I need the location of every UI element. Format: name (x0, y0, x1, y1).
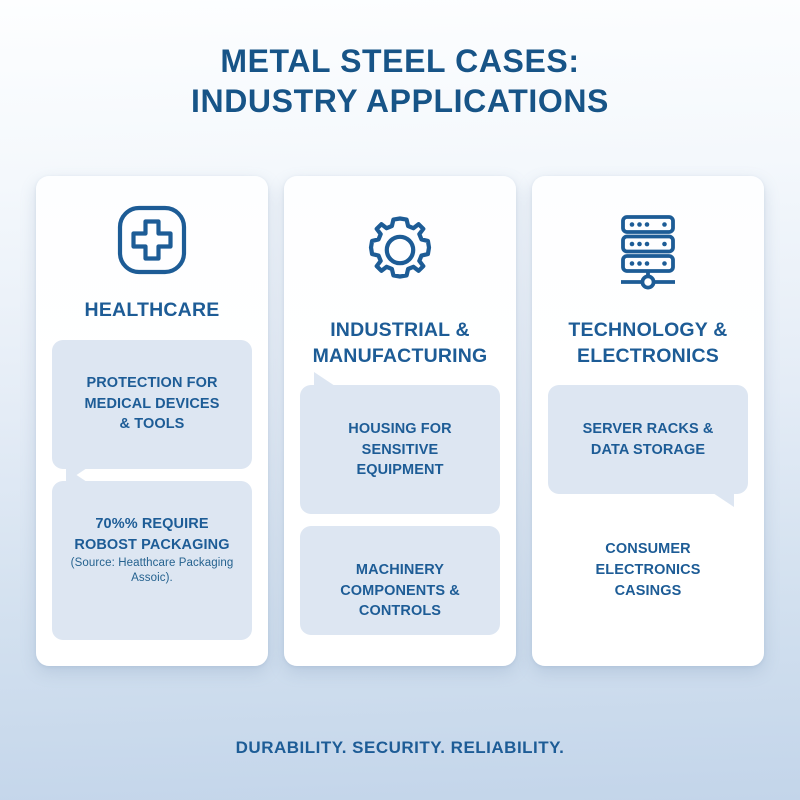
footer-tagline: DURABILITY. SECURITY. RELIABILITY. (0, 738, 800, 758)
bubble-tail-icon (314, 372, 338, 388)
card-technology-electronics[interactable]: TECHNOLOGY & ELECTRONICS SERVER RACKS & … (532, 176, 764, 666)
card-healthcare[interactable]: HEALTHCARE PROTECTION FOR MEDICAL DEVICE… (36, 176, 268, 666)
card-heading: HEALTHCARE (85, 298, 220, 324)
item-text: 70%% REQUIRE ROBOST PACKAGING (74, 516, 229, 553)
item-text: MACHINERY COMPONENTS & CONTROLS (340, 562, 460, 619)
card-heading: TECHNOLOGY & ELECTRONICS (568, 318, 727, 369)
infographic-poster: METAL STEEL CASES: INDUSTRY APPLICATIONS… (0, 0, 800, 800)
page-title: METAL STEEL CASES: INDUSTRY APPLICATIONS (0, 42, 800, 121)
bubble-tail-icon (710, 491, 734, 507)
item-text: SERVER RACKS & DATA STORAGE (583, 421, 714, 458)
item-text: CONSUMER ELECTRONICS CASINGS (595, 541, 700, 598)
list-item: 70%% REQUIRE ROBOST PACKAGING (Source: H… (52, 481, 252, 641)
card-industrial-manufacturing[interactable]: INDUSTRIAL & MANUFACTURING HOUSING FOR S… (284, 176, 516, 666)
list-item: HOUSING FOR SENSITIVE EQUIPMENT (300, 385, 500, 514)
item-source-note: (Source: Heatthcare Packaging Assoic). (62, 556, 242, 586)
gear-icon (362, 202, 438, 298)
list-item: MACHINERY COMPONENTS & CONTROLS (300, 526, 500, 634)
item-text: HOUSING FOR SENSITIVE EQUIPMENT (348, 421, 451, 478)
server-rack-icon (608, 202, 688, 298)
medical-cross-icon (114, 202, 190, 278)
card-items: PROTECTION FOR MEDICAL DEVICES & TOOLS 7… (52, 340, 252, 653)
list-item: SERVER RACKS & DATA STORAGE (548, 385, 748, 493)
bubble-tail-icon (66, 468, 90, 484)
card-items: HOUSING FOR SENSITIVE EQUIPMENT MACHINER… (300, 385, 500, 646)
card-heading: INDUSTRIAL & MANUFACTURING (313, 318, 488, 369)
list-item: CONSUMER ELECTRONICS CASINGS (548, 506, 748, 614)
card-items: SERVER RACKS & DATA STORAGE CONSUMER ELE… (548, 385, 748, 626)
list-item: PROTECTION FOR MEDICAL DEVICES & TOOLS (52, 340, 252, 469)
item-text: PROTECTION FOR MEDICAL DEVICES & TOOLS (85, 375, 220, 432)
title-line-2: INDUSTRY APPLICATIONS (0, 82, 800, 122)
title-line-1: METAL STEEL CASES: (0, 42, 800, 82)
cards-row: HEALTHCARE PROTECTION FOR MEDICAL DEVICE… (36, 176, 764, 666)
